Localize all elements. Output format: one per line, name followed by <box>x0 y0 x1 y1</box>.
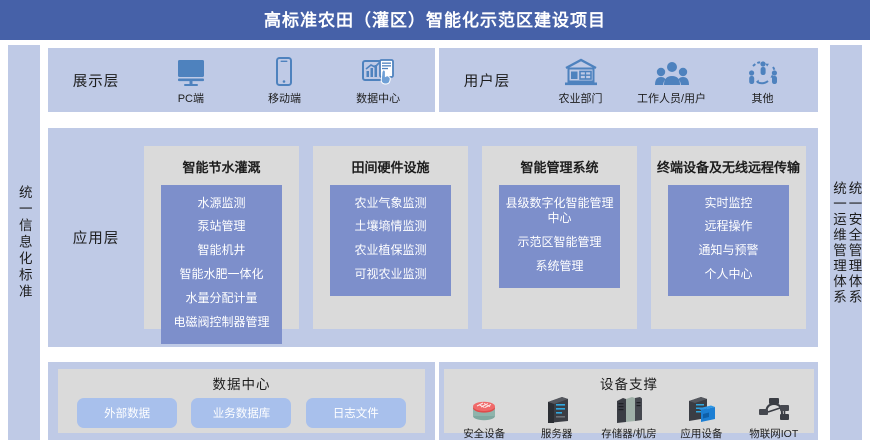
app-card-item[interactable]: 通知与预警 <box>696 239 760 263</box>
data-center-pill[interactable]: 业务数据库 <box>191 398 291 428</box>
app-card-item[interactable]: 远程操作 <box>702 215 754 239</box>
display-item-mobile[interactable]: 移动端 <box>247 55 321 106</box>
left-rail-label: 统一信息化标准 <box>16 185 32 301</box>
display-item-label: 移动端 <box>268 90 301 106</box>
application-layer-label: 应用层 <box>48 227 144 248</box>
app-card-item[interactable]: 水源监测 <box>195 192 247 216</box>
user-item-staff[interactable]: 工作人员/用户 <box>635 55 709 106</box>
app-card-title: 田间硬件设施 <box>345 159 435 177</box>
people-group-icon <box>655 55 689 87</box>
equip-item-app-device[interactable]: 应用设备 <box>666 394 736 441</box>
app-card-items: 县级数字化智能管理中心 示范区智能管理 系统管理 <box>499 185 620 288</box>
app-card-item[interactable]: 系统管理 <box>533 255 585 279</box>
app-card-item[interactable]: 土壤墒情监测 <box>352 215 428 239</box>
app-device-icon <box>684 394 718 424</box>
display-item-datacenter[interactable]: 数据中心 <box>341 55 415 106</box>
user-item-label: 农业部门 <box>559 90 603 106</box>
equip-item-storage[interactable]: 存储器/机房 <box>594 394 664 441</box>
right-rail-label-operations: 统一运维管理体系 <box>830 181 846 305</box>
app-card-item[interactable]: 智能水肥一体化 <box>177 263 265 287</box>
data-center-pill[interactable]: 外部数据 <box>77 398 177 428</box>
app-card-item[interactable]: 实时监控 <box>702 192 754 216</box>
title-underline <box>0 36 870 40</box>
equipment-support-group: 设备支撑 安全设备 <box>439 362 818 440</box>
app-card-field-hardware[interactable]: 田间硬件设施 农业气象监测 土壤墒情监测 农业植保监测 可视农业监测 <box>313 146 468 329</box>
app-card-title: 终端设备及无线远程传输 <box>651 159 806 177</box>
equipment-support-box: 设备支撑 安全设备 <box>444 369 814 433</box>
server-tower-icon <box>542 394 572 424</box>
display-layer-label: 展示层 <box>48 70 144 91</box>
page-title: 高标准农田（灌区）智能化示范区建设项目 <box>264 6 606 31</box>
right-rail-management-systems: 统一安全管理体系 统一运维管理体系 <box>830 45 862 440</box>
display-item-pc[interactable]: PC端 <box>154 55 228 106</box>
display-item-label: PC端 <box>178 90 204 106</box>
data-center-pill[interactable]: 日志文件 <box>306 398 406 428</box>
app-card-item[interactable]: 智能机井 <box>195 239 247 263</box>
equip-item-label: 服务器 <box>541 426 573 441</box>
router-security-icon <box>467 394 501 424</box>
left-rail-unified-standard: 统一信息化标准 <box>8 45 40 440</box>
app-card-items: 水源监测 泵站管理 智能机井 智能水肥一体化 水量分配计量 电磁阀控制器管理 <box>161 185 282 344</box>
building-icon <box>564 55 598 87</box>
user-item-agri-dept[interactable]: 农业部门 <box>544 55 618 106</box>
app-card-item[interactable]: 泵站管理 <box>195 215 247 239</box>
equip-item-label: 物联网IOT <box>749 426 798 441</box>
people-cycle-icon <box>747 55 779 87</box>
data-center-title: 数据中心 <box>58 369 425 393</box>
app-card-item[interactable]: 农业植保监测 <box>352 239 428 263</box>
storage-rack-icon <box>612 394 646 424</box>
application-band: 应用层 智能节水灌溉 水源监测 泵站管理 智能机井 智能水肥一体化 水量分配计量… <box>48 128 818 347</box>
app-card-title: 智能节水灌溉 <box>176 159 266 177</box>
data-center-group: 数据中心 外部数据 业务数据库 日志文件 <box>48 362 435 440</box>
app-card-item[interactable]: 示范区智能管理 <box>515 231 603 255</box>
bottom-band: 数据中心 外部数据 业务数据库 日志文件 设备支撑 <box>48 362 818 440</box>
user-item-label: 工作人员/用户 <box>637 90 706 106</box>
user-item-label: 其他 <box>752 90 774 106</box>
app-card-items: 农业气象监测 土壤墒情监测 农业植保监测 可视农业监测 <box>330 185 451 296</box>
app-card-item[interactable]: 个人中心 <box>702 263 754 287</box>
equip-item-label: 应用设备 <box>680 426 722 441</box>
app-card-smart-irrigation[interactable]: 智能节水灌溉 水源监测 泵站管理 智能机井 智能水肥一体化 水量分配计量 电磁阀… <box>144 146 299 329</box>
tablet-chart-icon <box>362 55 394 87</box>
equip-item-label: 存储器/机房 <box>601 426 656 441</box>
iot-network-icon <box>757 394 791 424</box>
top-band: 展示层 PC端 <box>48 48 818 112</box>
equip-item-label: 安全设备 <box>463 426 505 441</box>
app-card-items: 实时监控 远程操作 通知与预警 个人中心 <box>668 185 789 296</box>
mobile-icon <box>275 55 293 87</box>
display-item-label: 数据中心 <box>356 90 400 106</box>
app-card-item[interactable]: 可视农业监测 <box>352 263 428 287</box>
user-layer-group: 用户层 农业部门 <box>439 48 818 112</box>
data-center-box: 数据中心 外部数据 业务数据库 日志文件 <box>58 369 425 433</box>
app-card-item[interactable]: 农业气象监测 <box>352 192 428 216</box>
monitor-icon <box>176 55 206 87</box>
display-layer-group: 展示层 PC端 <box>48 48 435 112</box>
app-card-terminal-transmission[interactable]: 终端设备及无线远程传输 实时监控 远程操作 通知与预警 个人中心 <box>651 146 806 329</box>
app-card-item[interactable]: 县级数字化智能管理中心 <box>503 192 616 232</box>
equip-item-iot[interactable]: 物联网IOT <box>739 394 809 441</box>
page-title-bar: 高标准农田（灌区）智能化示范区建设项目 <box>0 0 870 36</box>
equip-item-security[interactable]: 安全设备 <box>449 394 519 441</box>
right-rail-label-security: 统一安全管理体系 <box>846 181 862 305</box>
equipment-support-title: 设备支撑 <box>444 369 814 393</box>
app-card-smart-management[interactable]: 智能管理系统 县级数字化智能管理中心 示范区智能管理 系统管理 <box>482 146 637 329</box>
equip-item-server[interactable]: 服务器 <box>522 394 592 441</box>
app-card-item[interactable]: 电磁阀控制器管理 <box>171 311 271 335</box>
user-layer-label: 用户层 <box>439 70 535 91</box>
user-item-other[interactable]: 其他 <box>726 55 800 106</box>
app-card-title: 智能管理系统 <box>514 159 604 177</box>
app-card-item[interactable]: 水量分配计量 <box>183 287 259 311</box>
